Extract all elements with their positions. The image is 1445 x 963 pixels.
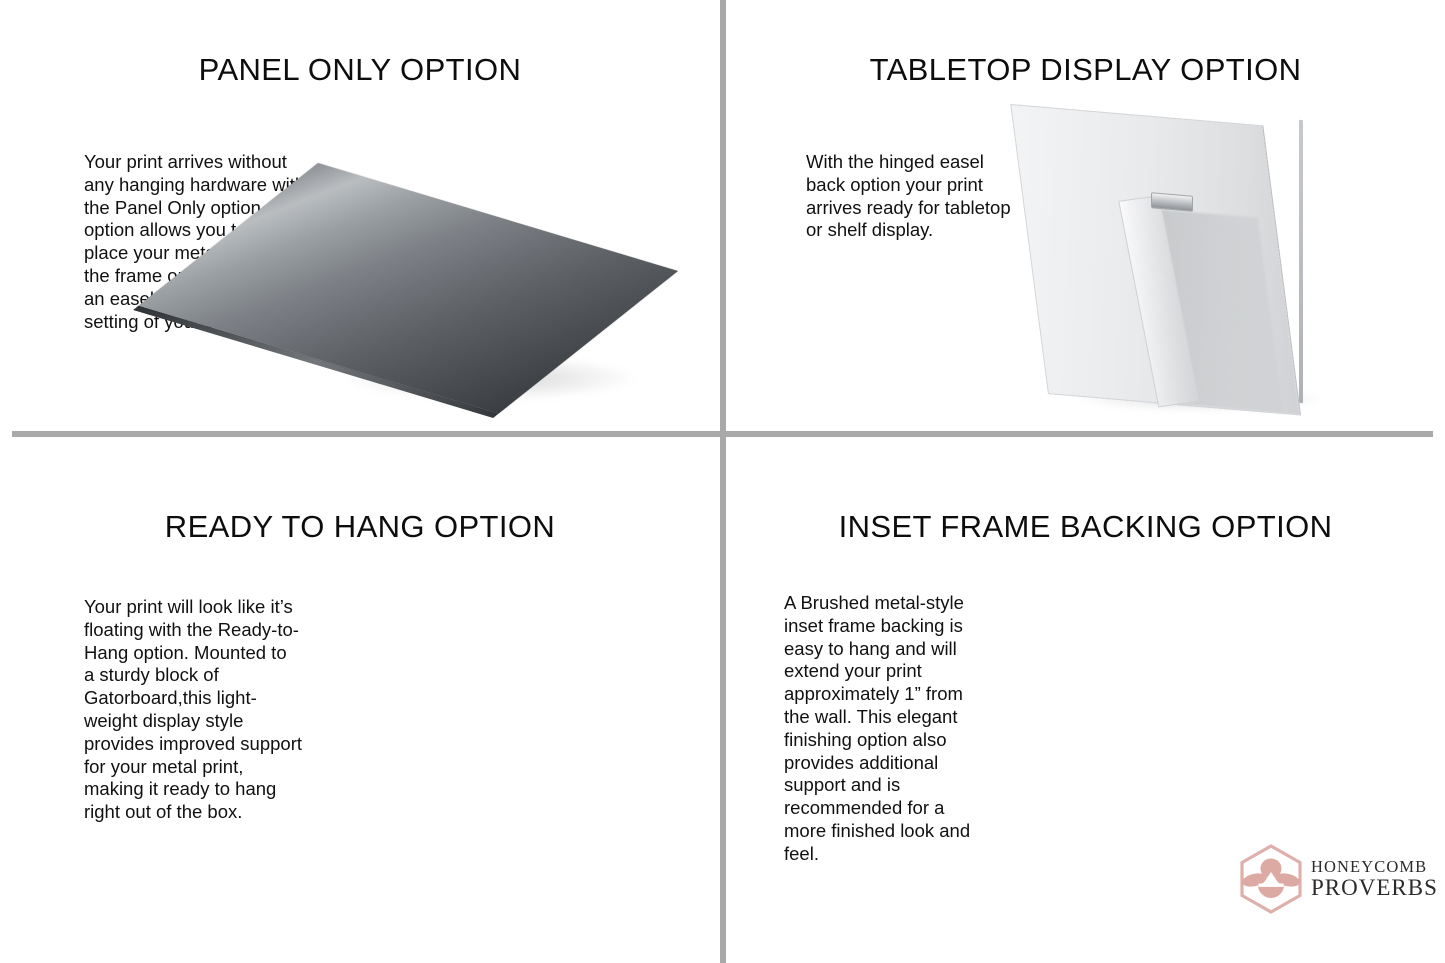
tabletop-display-title: TABLETOP DISPLAY OPTION	[726, 52, 1445, 88]
quadrant-ready-to-hang: READY TO HANG OPTION Your print will loo…	[0, 437, 720, 963]
brand-logo-line1: HONEYCOMB	[1311, 859, 1438, 876]
ready-to-hang-title: READY TO HANG OPTION	[0, 509, 720, 545]
panel-only-title: PANEL ONLY OPTION	[0, 52, 720, 88]
flat-metal-panel-illustration	[318, 155, 690, 420]
easel-back-illustration	[1018, 98, 1398, 423]
inset-frame-backing-title: INSET FRAME BACKING OPTION	[726, 509, 1445, 545]
honeycomb-bee-hexagon-icon	[1238, 844, 1304, 914]
options-infographic: PANEL ONLY OPTION Your print arrives wit…	[0, 0, 1445, 963]
brand-logo: HONEYCOMB PROVERBS	[1238, 842, 1433, 916]
quadrant-tabletop-display: TABLETOP DISPLAY OPTION With the hinged …	[726, 0, 1445, 431]
quadrant-panel-only: PANEL ONLY OPTION Your print arrives wit…	[0, 0, 720, 431]
easel-panel-right-edge	[1299, 120, 1303, 403]
tabletop-display-body: With the hinged easel back option your p…	[806, 151, 1021, 242]
ready-to-hang-body: Your print will look like it’s floating …	[84, 596, 302, 824]
brand-logo-line2: PROVERBS	[1311, 876, 1438, 899]
brand-logo-text: HONEYCOMB PROVERBS	[1311, 859, 1438, 900]
inset-frame-backing-body: A Brushed metal-style inset frame backin…	[784, 592, 984, 866]
